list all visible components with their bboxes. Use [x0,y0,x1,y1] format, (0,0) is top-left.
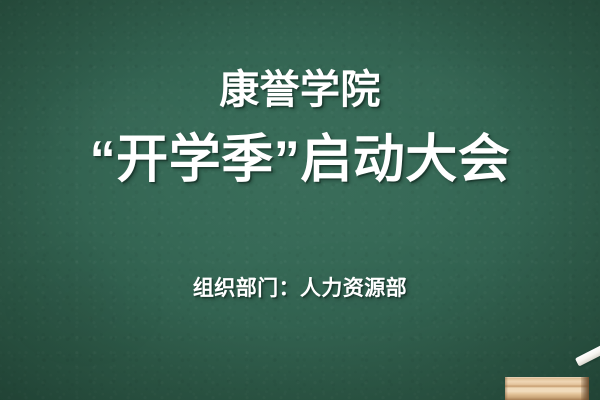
slide-title-line-2: “开学季”启动大会 [0,130,600,190]
chalk-ledge-icon [505,377,589,400]
slide-text-block: 康誉学院 “开学季”启动大会 组织部门：人力资源部 [0,0,600,400]
slide-title-line-1: 康誉学院 [0,67,600,113]
chalk-ledge-right-cap [581,377,589,400]
slide-subtitle-organizing-department: 组织部门：人力资源部 [0,275,600,303]
chalk-ledge-left-edge [505,377,508,400]
presentation-slide: 康誉学院 “开学季”启动大会 组织部门：人力资源部 [0,0,600,400]
